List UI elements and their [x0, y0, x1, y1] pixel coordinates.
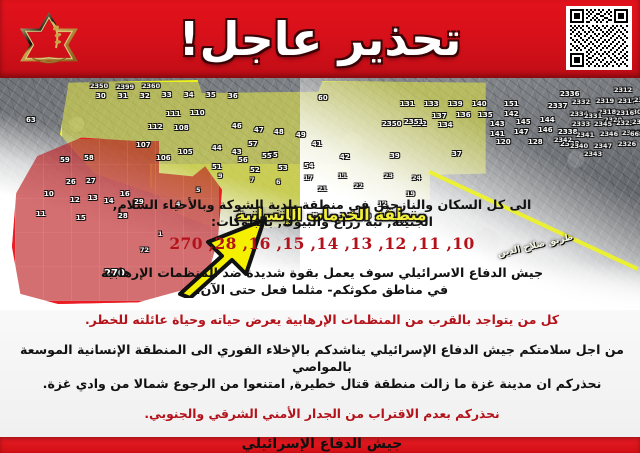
- operations-line-1: جيش الدفاع الاسرائيلي سوف يعمل بقوة شديد…: [101, 265, 543, 280]
- blocks-list: 10, 11, 12, 13, 14, 15, 16, 28, 270: [14, 233, 630, 255]
- proximity-warning: كل من يتواجد بالقرب من المنظمات الإرهابي…: [14, 311, 630, 328]
- intro-line-2: الجنينة, تبة زراع والبيوك, بالبلوكات:: [211, 214, 433, 229]
- evacuation-line-1: من اجل سلامتكم جيش الدفاع الإسرائيلي ينا…: [20, 342, 624, 374]
- header-banner: تحذير عاجل!: [0, 0, 640, 78]
- intro-line-1: الى كل السكان والنازحين في منطقة بلدية ا…: [113, 197, 532, 212]
- message-body: الى كل السكان والنازحين في منطقة بلدية ا…: [0, 196, 640, 453]
- intro-paragraph: الى كل السكان والنازحين في منطقة بلدية ا…: [14, 196, 630, 230]
- operations-line-2: في مناطق مكوثكم- مثلما فعل حتى الآن.: [196, 282, 448, 297]
- evacuation-line-2: نحذركم ان مدينة غزة ما زالت منطقة قتال خ…: [43, 376, 602, 391]
- warning-leaflet: تحذير عاجل!: [0, 0, 640, 453]
- banner-title: تحذير عاجل!: [0, 4, 640, 74]
- operations-paragraph: جيش الدفاع الاسرائيلي سوف يعمل بقوة شديد…: [14, 264, 630, 298]
- security-wall-warning: نحذركم بعدم الاقتراب من الجدار الأمني ال…: [14, 406, 630, 423]
- qr-code-icon[interactable]: [566, 6, 632, 70]
- signature: جيش الدفاع الإسرائيلي: [14, 436, 630, 453]
- evacuation-instruction: من اجل سلامتكم جيش الدفاع الإسرائيلي ينا…: [14, 341, 630, 392]
